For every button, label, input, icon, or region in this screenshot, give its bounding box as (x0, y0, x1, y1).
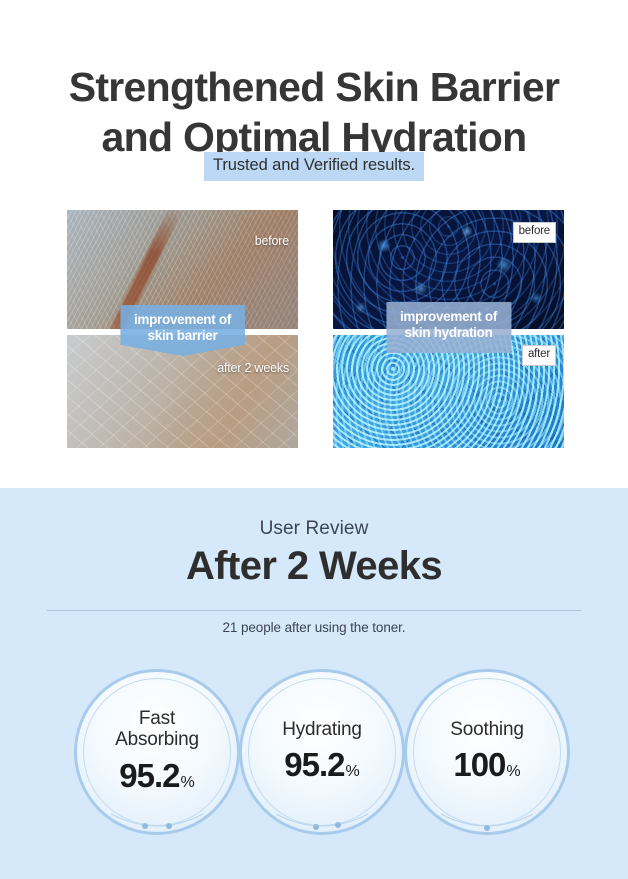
section-divider (47, 610, 581, 611)
stat-number: 95.2 (119, 757, 179, 795)
stat-label: Hydrating (282, 720, 362, 741)
stat-content: Soothing 100 % (401, 666, 573, 838)
panel-skin-hydration: before after improvement of skin hydrati… (333, 210, 564, 448)
headline-line-1: Strengthened Skin Barrier (0, 63, 628, 112)
stat-content: Fast Absorbing 95.2 % (71, 666, 243, 838)
review-note: 21 people after using the toner. (0, 620, 628, 635)
badge-line-1: improvement of (400, 309, 497, 325)
stat-circle-group: Fast Absorbing 95.2 % (0, 666, 628, 846)
stat-number: 95.2 (284, 746, 344, 784)
user-review-section: User Review After 2 Weeks 21 people afte… (0, 488, 628, 879)
stat-circle-soothing: Soothing 100 % (401, 666, 573, 838)
badge-improvement-skin-hydration: improvement of skin hydration (386, 302, 511, 353)
stat-unit: % (506, 763, 520, 781)
stat-value: 95.2 % (119, 757, 194, 795)
stat-circle-fast-absorbing: Fast Absorbing 95.2 % (71, 666, 243, 838)
badge-line-2: skin barrier (134, 328, 231, 344)
label-before: before (255, 234, 289, 248)
stat-circle-hydrating: Hydrating 95.2 % (236, 666, 408, 838)
marketing-infographic: Strengthened Skin Barrier and Optimal Hy… (0, 0, 628, 879)
panel-skin-barrier: before after 2 weeks improvement of skin… (67, 210, 298, 448)
page-title: Strengthened Skin Barrier and Optimal Hy… (0, 63, 628, 161)
badge-line-1: improvement of (134, 312, 231, 328)
review-eyebrow: User Review (0, 518, 628, 540)
stat-label: Soothing (450, 720, 523, 741)
review-title: After 2 Weeks (0, 544, 628, 589)
label-after: after (522, 345, 556, 366)
stat-value: 100 % (453, 746, 520, 784)
stat-number: 100 (453, 746, 505, 784)
before-after-panels: before after 2 weeks improvement of skin… (0, 210, 628, 450)
subheadline: Trusted and Verified results. (204, 152, 424, 181)
label-before: before (513, 222, 556, 243)
stat-unit: % (181, 774, 195, 792)
badge-line-2: skin hydration (400, 325, 497, 341)
results-hero-section: Strengthened Skin Barrier and Optimal Hy… (0, 0, 628, 488)
stat-value: 95.2 % (284, 746, 359, 784)
label-after: after 2 weeks (217, 361, 289, 375)
subheadline-wrapper: Trusted and Verified results. (0, 152, 628, 181)
stat-unit: % (346, 763, 360, 781)
stat-label: Fast Absorbing (115, 709, 199, 751)
stat-content: Hydrating 95.2 % (236, 666, 408, 838)
